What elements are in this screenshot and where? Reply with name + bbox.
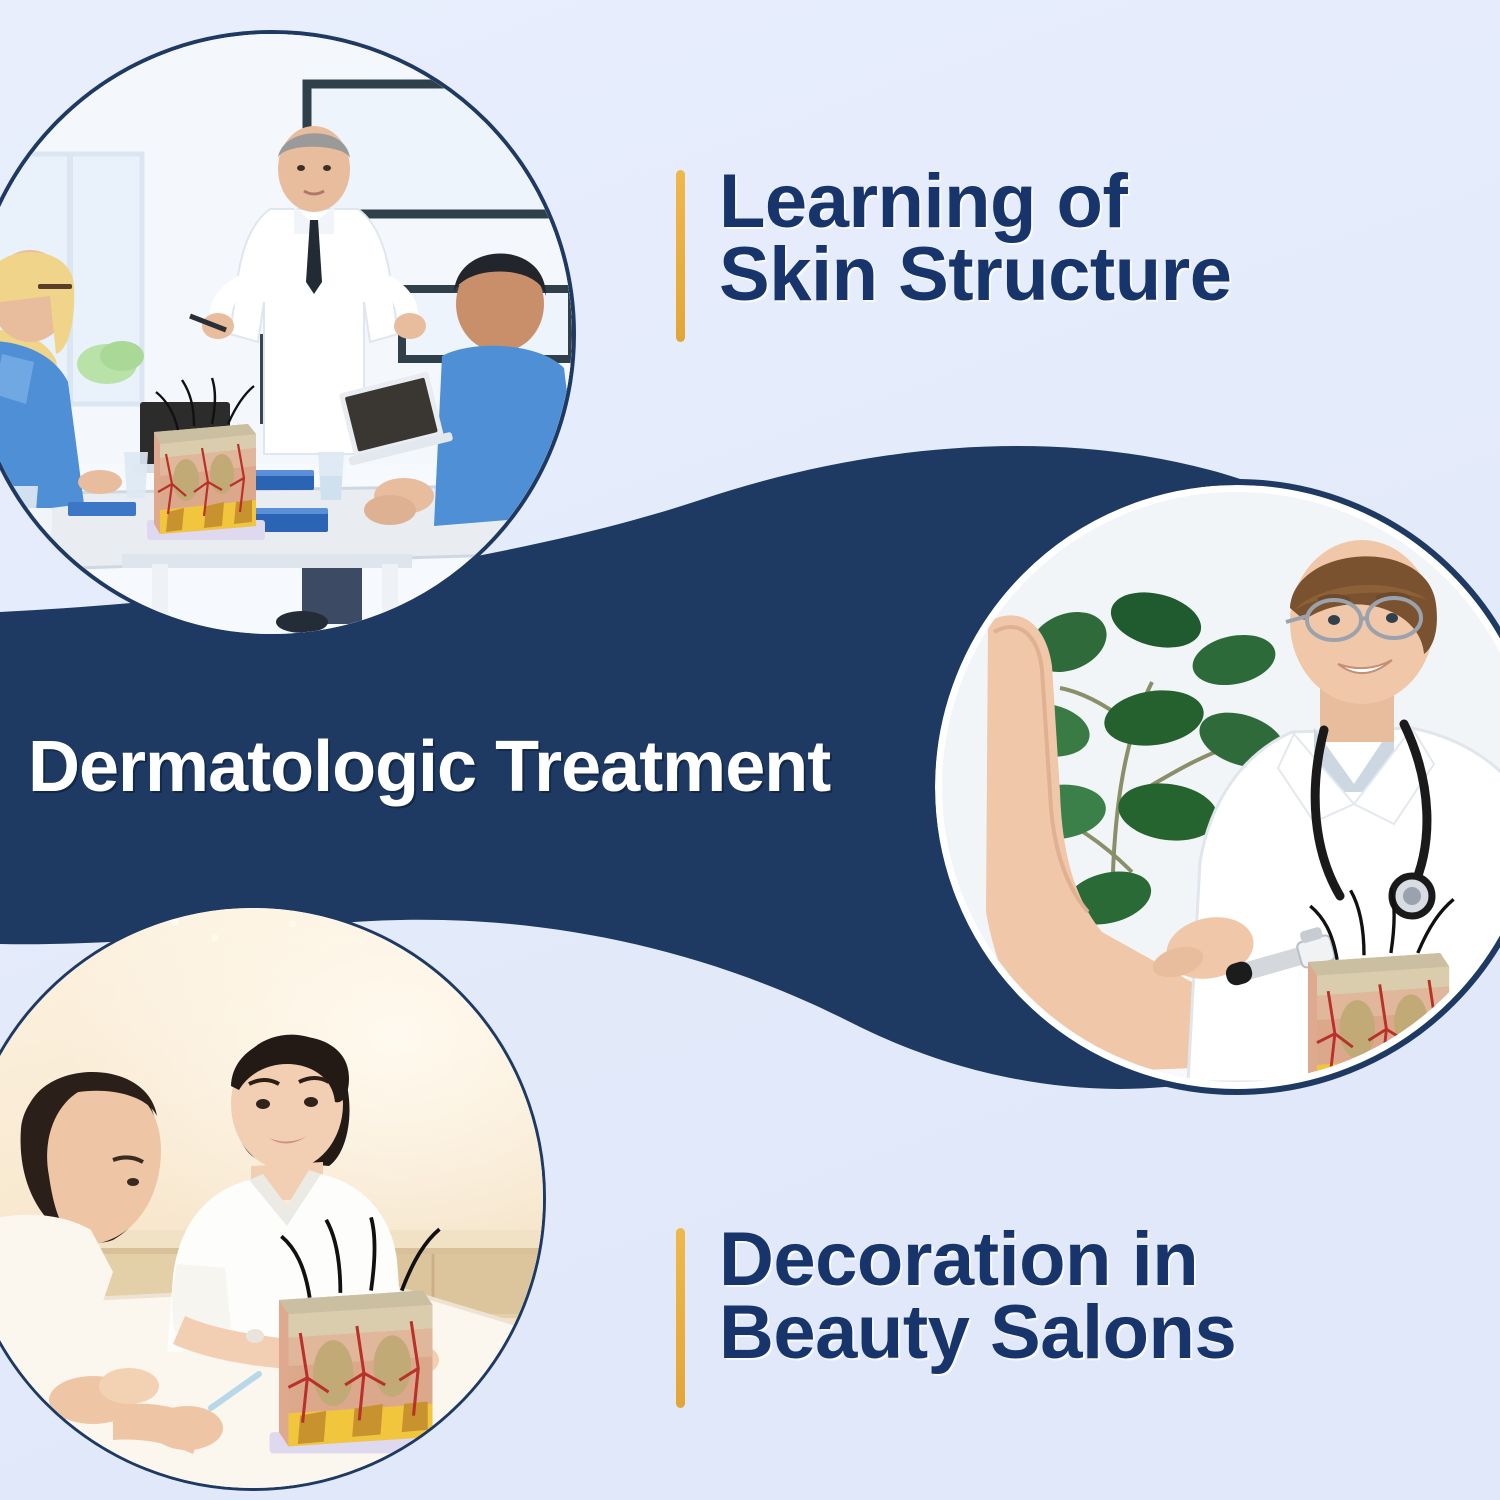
gold-accent-bar-decoration: [676, 1228, 685, 1408]
feature-learning-line2: Skin Structure: [719, 235, 1231, 316]
feature-learning-line1: Learning of: [719, 162, 1231, 243]
banner-title: Dermatologic Treatment: [28, 726, 830, 808]
poster-canvas: Dermatologic Treatment Learning of Skin …: [0, 0, 1500, 1500]
beauty-salon-illustration: [0, 908, 543, 1488]
feature-decoration: Decoration in Beauty Salons: [676, 1228, 1236, 1408]
feature-decoration-line1: Decoration in: [719, 1220, 1236, 1301]
training-room-illustration: [0, 34, 572, 634]
dermatologist-illustration: [942, 492, 1500, 1082]
gold-accent-bar-learning: [676, 170, 685, 342]
feature-decoration-line2: Beauty Salons: [719, 1293, 1236, 1374]
feature-learning: Learning of Skin Structure: [676, 170, 1231, 342]
